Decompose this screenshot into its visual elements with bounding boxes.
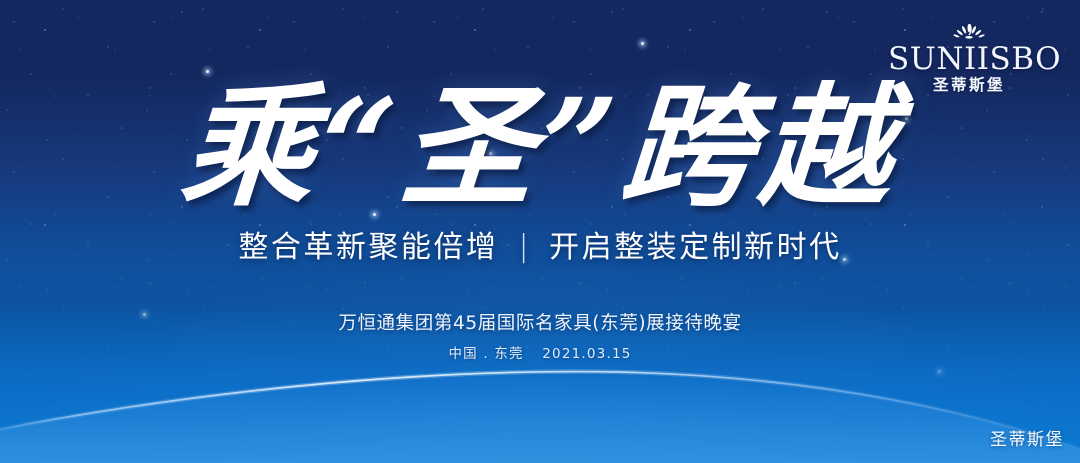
subtitle: 整合革新聚能倍增 | 开启整装定制新时代 bbox=[0, 228, 1080, 268]
headline-calligraphy: 乘“圣”跨越 bbox=[0, 82, 1080, 214]
subtitle-separator: | bbox=[518, 227, 531, 267]
promo-banner: SUNIISBO 圣蒂斯堡 乘“圣”跨越 整合革新聚能倍增 | 开启整装定制新时… bbox=[0, 0, 1080, 463]
event-meta: 中国 . 东莞 2021.03.15 bbox=[0, 344, 1080, 364]
lotus-flower-icon bbox=[949, 22, 989, 42]
event-location: 中国 . 东莞 bbox=[448, 346, 523, 362]
watermark: 圣蒂斯堡 bbox=[990, 430, 1064, 450]
event-title: 万恒通集团第45届国际名家具(东莞)展接待晚宴 bbox=[0, 311, 1080, 337]
star-glow-icon bbox=[641, 42, 644, 45]
subtitle-left: 整合革新聚能倍增 bbox=[238, 230, 498, 265]
subtitle-right: 开启整装定制新时代 bbox=[549, 230, 842, 265]
event-date: 2021.03.15 bbox=[542, 346, 631, 362]
star-glow-icon bbox=[938, 370, 941, 373]
logo-wordmark: SUNIISBO bbox=[888, 43, 1050, 75]
